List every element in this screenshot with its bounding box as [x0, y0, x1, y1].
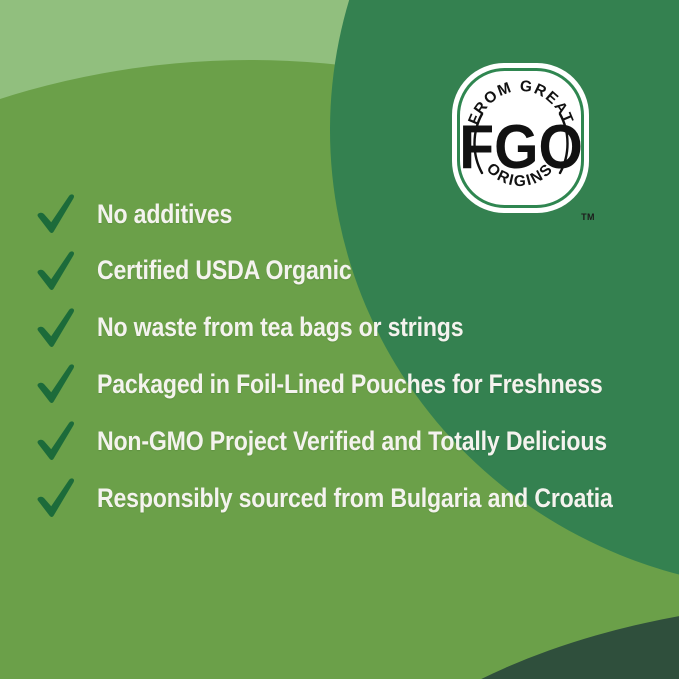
- feature-list-item: Responsibly sourced from Bulgaria and Cr…: [34, 476, 679, 520]
- checkmark-icon: [34, 192, 80, 236]
- checkmark-glyph: [38, 194, 75, 233]
- checkmark-icon: [34, 306, 80, 350]
- checkmark-glyph: [38, 308, 75, 347]
- fgo-brand-logo: FROM GREAT ORIGINS FGO TM: [449, 60, 599, 225]
- checkmark-icon: [34, 419, 80, 463]
- feature-list-item: Packaged in Foil-Lined Pouches for Fresh…: [34, 362, 679, 406]
- checkmark-glyph: [38, 365, 75, 404]
- feature-label: Packaged in Foil-Lined Pouches for Fresh…: [97, 371, 603, 398]
- feature-list-item: No additives: [34, 192, 255, 236]
- checkmark-glyph: [38, 422, 75, 461]
- checkmark-icon: [34, 249, 80, 293]
- feature-label: No waste from tea bags or strings: [97, 314, 463, 341]
- feature-label: Non-GMO Project Verified and Totally Del…: [97, 428, 607, 455]
- checkmark-glyph: [38, 251, 75, 290]
- feature-list-item: Non-GMO Project Verified and Totally Del…: [34, 419, 679, 463]
- badge-monogram: FGO: [459, 112, 583, 182]
- badge-trademark: TM: [581, 212, 595, 222]
- feature-list-item: No waste from tea bags or strings: [34, 306, 526, 350]
- checkmark-icon: [34, 476, 80, 520]
- checkmark-glyph: [38, 478, 75, 517]
- feature-label: Certified USDA Organic: [97, 257, 351, 284]
- product-feature-graphic: No additivesCertified USDA OrganicNo was…: [0, 0, 679, 679]
- feature-label: No additives: [97, 201, 232, 228]
- feature-list-item: Certified USDA Organic: [34, 249, 395, 293]
- checkmark-icon: [34, 362, 80, 406]
- feature-label: Responsibly sourced from Bulgaria and Cr…: [97, 485, 613, 512]
